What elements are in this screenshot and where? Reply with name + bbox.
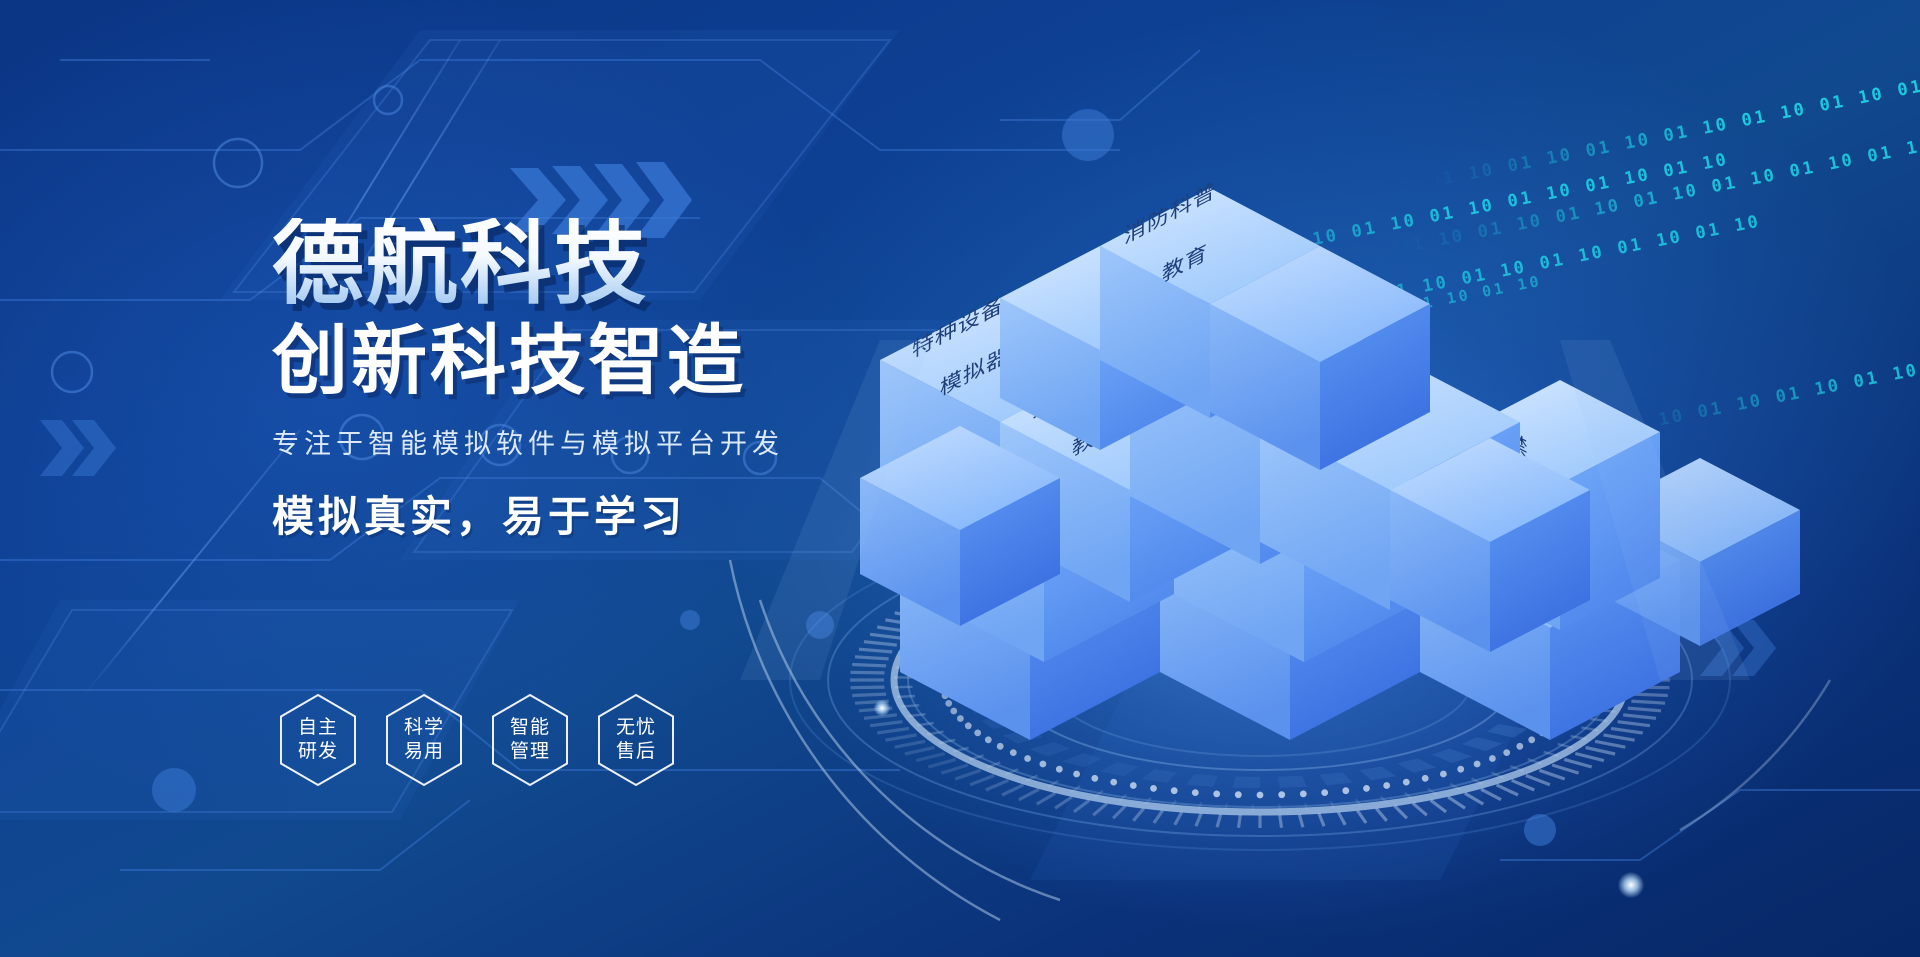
page-subtitle: 创新科技智造 [272,322,912,402]
description-text: 专注于智能模拟软件与模拟平台开发 [272,422,912,461]
badge-label-line1: 无忧 [616,716,656,740]
page-title: 德航科技 [272,218,912,312]
feature-badges: 自主 研发 科学 易用 智能 管理 [276,692,678,788]
glow-dot [1618,872,1644,898]
badge-label-line1: 科学 [404,716,444,740]
badge-label: 智能 管理 [488,692,572,788]
glow-dot [874,700,890,716]
badge-label-line2: 管理 [510,740,550,764]
hero-banner: 01 10 01 10 01 10 01 10 01 10 01 10 01 1… [0,0,1920,957]
badge-label-line2: 售后 [616,740,656,764]
feature-badge-smart-management[interactable]: 智能 管理 [488,692,572,788]
badge-label-line2: 易用 [404,740,444,764]
badge-label: 自主 研发 [276,692,360,788]
feature-badge-scientific-ease[interactable]: 科学 易用 [382,692,466,788]
badge-label-line1: 自主 [298,716,338,740]
feature-badge-after-sales[interactable]: 无忧 售后 [594,692,678,788]
badge-label-line2: 研发 [298,740,338,764]
hero-text-block: 德航科技 创新科技智造 专注于智能模拟软件与模拟平台开发 模拟真实，易于学习 [272,218,912,544]
slogan-text: 模拟真实，易于学习 [272,483,912,544]
badge-label: 科学 易用 [382,692,466,788]
feature-badge-self-development[interactable]: 自主 研发 [276,692,360,788]
badge-label: 无忧 售后 [594,692,678,788]
badge-label-line1: 智能 [510,716,550,740]
